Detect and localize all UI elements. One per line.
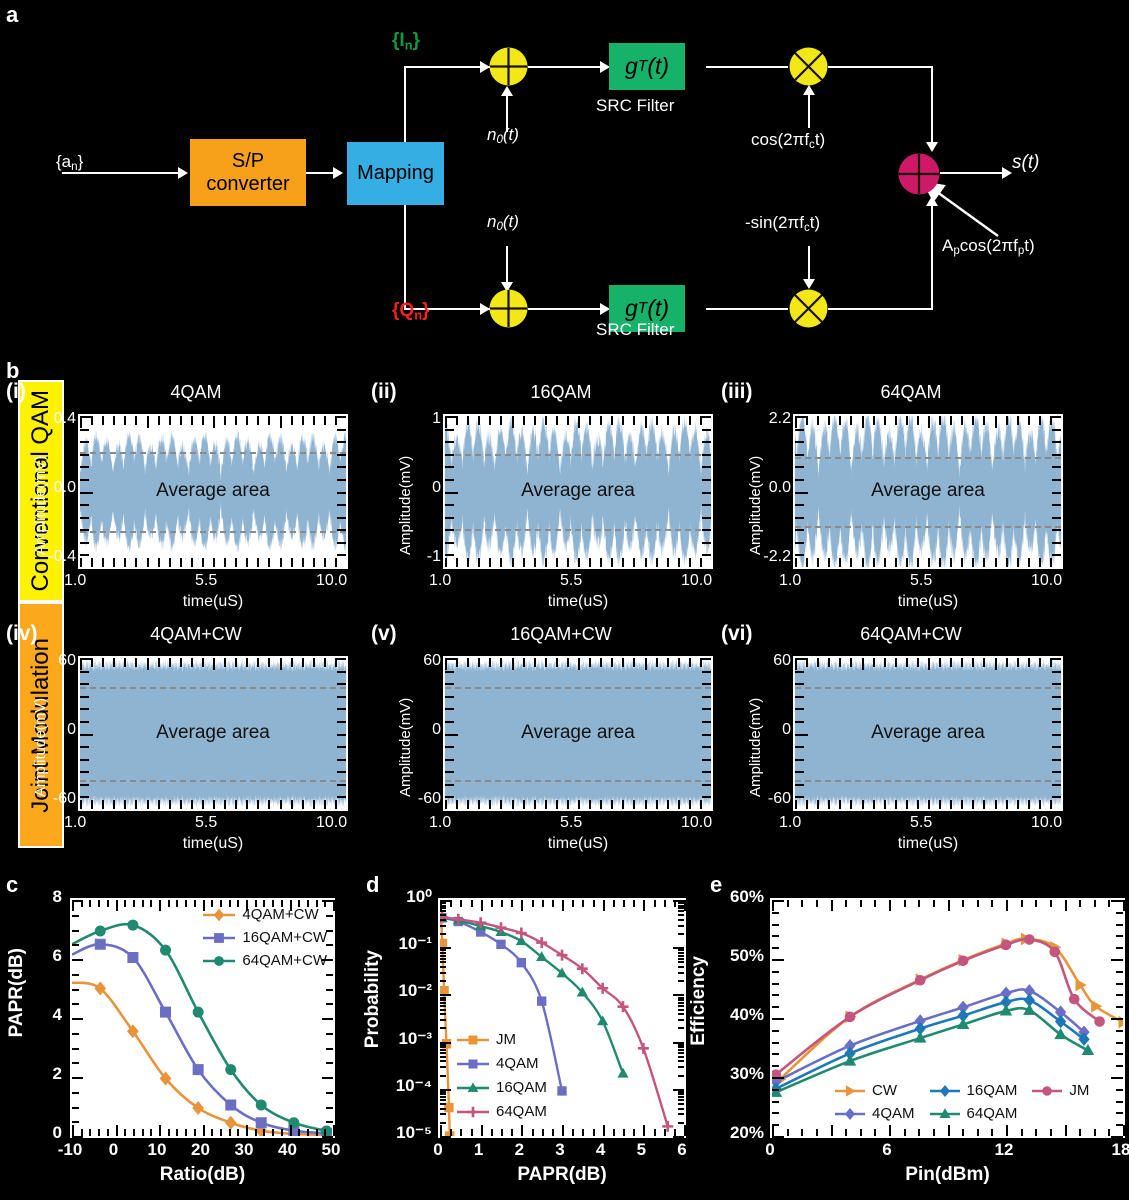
- axis-tick: [711, 658, 713, 670]
- axis-tick: [795, 800, 797, 811]
- axis-tick: [337, 771, 346, 773]
- sp-line1: S/P: [232, 150, 264, 172]
- legend-item-16QAM+CW[interactable]: 16QAM+CW: [202, 929, 327, 946]
- axis-tick: [246, 416, 248, 425]
- axis-tick: [80, 416, 93, 418]
- axis-tick: [246, 1125, 248, 1136]
- axis-tick: [237, 1129, 239, 1136]
- axis-tick: [1006, 1125, 1008, 1136]
- axis-tick: [445, 479, 454, 481]
- axis-tick: [795, 567, 808, 569]
- average-level-line-upper: [795, 687, 1061, 689]
- axis-tick: [622, 558, 624, 567]
- legend-item-16QAM[interactable]: 16QAM: [456, 1079, 547, 1096]
- axis-tick: [678, 1046, 684, 1048]
- axis-tick: [337, 504, 346, 506]
- axis-tick: [839, 558, 841, 567]
- axis-tick: [772, 1112, 779, 1114]
- x-axis-label: PAPR(dB): [438, 1164, 686, 1186]
- x-tick-label: 6: [872, 1140, 902, 1160]
- x-tick-label: 30: [229, 1140, 259, 1160]
- axis-tick: [831, 900, 833, 911]
- x-tick-label: 5.5: [910, 572, 932, 590]
- x-tick-label: 20: [186, 1140, 216, 1160]
- axis-tick: [326, 915, 333, 917]
- legend-marker-icon: [202, 931, 236, 945]
- legend-item-64QAM[interactable]: 64QAM: [929, 1105, 1018, 1122]
- axis-tick: [711, 800, 713, 811]
- axis-tick: [1061, 416, 1063, 428]
- axis-tick: [1052, 708, 1061, 710]
- subplot-title: 16QAM+CW: [411, 624, 711, 645]
- axis-tick: [235, 800, 237, 809]
- axis-tick: [72, 974, 79, 976]
- axis-tick: [280, 658, 282, 670]
- x-tick-label: 5: [626, 1140, 656, 1160]
- waveform-subplot-ii: (ii)16QAMAmplitude(mV)10-1Average area1.…: [371, 380, 741, 605]
- axis-tick: [1065, 900, 1067, 911]
- axis-tick: [862, 800, 864, 811]
- axis-tick: [523, 558, 525, 567]
- chart-e-plot-area: CW16QAMJM4QAM64QAM: [770, 898, 1125, 1138]
- axis-tick: [816, 1129, 818, 1136]
- axis-tick: [817, 800, 819, 809]
- axis-tick: [1052, 567, 1063, 569]
- axis-tick: [72, 1092, 79, 1094]
- axis-tick: [229, 1129, 231, 1136]
- q-sub: n: [414, 308, 422, 323]
- axis-tick: [440, 999, 446, 1001]
- axis-tick: [313, 416, 315, 425]
- axis-tick: [1052, 454, 1061, 456]
- axis-tick: [589, 558, 591, 567]
- axis-tick: [445, 466, 454, 468]
- axis-tick: [80, 529, 89, 531]
- axis-tick: [116, 900, 118, 911]
- axis-tick: [664, 1129, 666, 1136]
- y-tick-label: -1: [399, 548, 441, 566]
- axis-tick: [552, 900, 554, 907]
- legend-item-16QAM[interactable]: 16QAM: [929, 1082, 1018, 1099]
- axis-tick: [91, 800, 93, 809]
- axis-tick: [667, 416, 669, 425]
- axis-tick: [928, 658, 930, 670]
- axis-tick: [700, 800, 702, 809]
- axis-tick: [562, 900, 564, 911]
- axis-tick: [801, 1129, 803, 1136]
- legend-marker-icon: [202, 908, 236, 922]
- axis-tick: [80, 671, 89, 673]
- axis-tick: [874, 900, 876, 907]
- waveform-plot-area: Average area: [78, 656, 348, 811]
- x-tick-label: 6: [667, 1140, 697, 1160]
- axis-tick: [280, 416, 282, 428]
- axis-tick: [816, 900, 818, 907]
- axis-tick: [1028, 558, 1030, 567]
- axis-tick: [542, 1129, 544, 1136]
- legend-label: 4QAM: [872, 1105, 915, 1122]
- axis-tick: [795, 771, 804, 773]
- axis-tick: [102, 800, 104, 809]
- axis-tick: [135, 416, 137, 425]
- axis-tick: [578, 800, 580, 811]
- axis-tick: [135, 658, 137, 667]
- axis-tick: [678, 1052, 684, 1054]
- axis-tick: [1061, 800, 1063, 811]
- axis-tick: [168, 900, 170, 907]
- axis-tick: [939, 800, 941, 809]
- x-tick-label: 0: [99, 1140, 129, 1160]
- y-axis-label: Efficiency: [688, 956, 710, 1046]
- axis-tick: [772, 947, 779, 949]
- axis-tick: [337, 554, 346, 556]
- cos-tail: t): [815, 130, 825, 149]
- axis-tick: [678, 1113, 684, 1115]
- axis-tick: [772, 971, 779, 973]
- axis-tick: [521, 1125, 523, 1136]
- x-tick-label: 1: [464, 1140, 494, 1160]
- axis-tick: [948, 900, 950, 911]
- axis-tick: [1017, 558, 1019, 567]
- axis-tick: [839, 800, 841, 809]
- axis-tick: [235, 558, 237, 567]
- legend-item-4QAM[interactable]: 4QAM: [834, 1105, 915, 1122]
- axis-tick: [445, 796, 454, 798]
- axis-tick: [895, 658, 897, 667]
- axis-tick: [481, 900, 483, 911]
- axis-tick: [895, 558, 897, 567]
- axis-tick: [89, 1129, 91, 1136]
- axis-tick: [116, 1125, 118, 1136]
- axis-tick: [268, 558, 270, 567]
- y-tick-label: 60: [34, 652, 76, 670]
- axis-tick: [678, 1060, 684, 1062]
- axis-tick: [806, 800, 808, 809]
- series-line-64QAM: [776, 1008, 1088, 1092]
- axis-tick: [1065, 1125, 1067, 1136]
- axis-tick: [1052, 696, 1061, 698]
- pilot-a: A: [942, 236, 953, 255]
- average-level-line-upper: [795, 457, 1061, 459]
- axis-tick: [500, 558, 502, 567]
- x-tick-label: 1.0: [429, 572, 451, 590]
- axis-tick: [906, 416, 908, 425]
- axis-tick: [928, 416, 930, 428]
- src-filter-i-block[interactable]: gT(t): [609, 43, 685, 90]
- axis-tick: [445, 542, 454, 544]
- legend-item-CW[interactable]: CW: [834, 1082, 915, 1099]
- axis-tick: [168, 1129, 170, 1136]
- pilot-tail: t): [1024, 236, 1034, 255]
- axis-tick: [500, 800, 502, 809]
- x-tick-label: 1.0: [429, 814, 451, 832]
- axis-tick: [860, 1129, 862, 1136]
- axis-tick: [667, 658, 669, 667]
- axis-tick: [80, 517, 89, 519]
- sp-converter-block[interactable]: S/P converter: [190, 139, 306, 206]
- axis-tick: [545, 800, 547, 809]
- axis-tick: [445, 492, 458, 494]
- axis-tick: [326, 1003, 333, 1005]
- axis-tick: [795, 429, 804, 431]
- axis-tick: [324, 800, 326, 809]
- axis-tick: [1116, 935, 1123, 937]
- legend-item-JM[interactable]: JM: [456, 1031, 547, 1048]
- axis-tick: [1079, 900, 1081, 907]
- series-line-JM: [776, 939, 1100, 1074]
- axis-tick: [1116, 1101, 1123, 1103]
- axis-tick: [1111, 1018, 1123, 1020]
- wire-mixer-i-down: [931, 66, 933, 144]
- mixer-q-icon: [789, 289, 828, 328]
- axis-tick: [80, 504, 89, 506]
- axis-tick: [889, 900, 891, 911]
- axis-tick: [567, 416, 569, 425]
- axis-tick: [1116, 947, 1123, 949]
- axis-tick: [80, 721, 89, 723]
- axis-tick: [593, 1129, 595, 1136]
- legend-marker-icon: [834, 1084, 866, 1098]
- axis-tick: [80, 658, 93, 660]
- axis-tick: [194, 900, 196, 907]
- axis-tick: [795, 466, 804, 468]
- legend-label: CW: [872, 1082, 897, 1099]
- axis-tick: [202, 800, 204, 809]
- axis-tick: [1052, 721, 1061, 723]
- axis-tick: [534, 558, 536, 567]
- axis-tick: [1035, 1129, 1037, 1136]
- axis-tick: [440, 952, 446, 954]
- axis-tick: [1052, 504, 1061, 506]
- wire-sin-carrier: [808, 246, 810, 279]
- mapping-block[interactable]: Mapping: [347, 142, 444, 205]
- axis-tick: [337, 429, 346, 431]
- axis-tick: [467, 558, 469, 567]
- y-tick-label: 0: [399, 479, 441, 497]
- x-tick-label: 1.0: [64, 814, 86, 832]
- subplot-title: 4QAM: [46, 382, 346, 403]
- axis-tick: [678, 1009, 684, 1011]
- axis-tick: [667, 558, 669, 567]
- axis-tick: [72, 1048, 79, 1050]
- axis-tick: [337, 746, 346, 748]
- axis-tick: [337, 529, 346, 531]
- wire-filter-q-mixer: [706, 308, 788, 310]
- axis-tick: [147, 800, 149, 811]
- axis-tick: [895, 416, 897, 425]
- average-level-line-lower: [445, 529, 711, 531]
- axis-tick: [1052, 492, 1063, 494]
- axis-tick: [850, 558, 852, 567]
- axis-tick: [874, 1129, 876, 1136]
- y-tick-label: 60%: [706, 887, 764, 907]
- legend-marker-icon: [456, 1105, 490, 1119]
- axis-tick: [772, 1124, 779, 1126]
- axis-tick: [246, 658, 248, 667]
- axis-tick: [795, 441, 804, 443]
- axis-tick: [445, 721, 454, 723]
- axis-tick: [593, 900, 595, 907]
- axis-tick: [501, 900, 503, 907]
- legend-item-JM[interactable]: JM: [1031, 1082, 1089, 1099]
- panel-c-letter: c: [6, 872, 18, 898]
- axis-tick: [567, 658, 569, 667]
- axis-tick: [255, 1129, 257, 1136]
- panel-e-efficiency-vs-pin: e CW16QAMJM4QAM64QAM20%30%40%50%60%06121…: [720, 870, 1129, 1200]
- axis-tick: [556, 558, 558, 567]
- combiner-icon: [898, 153, 940, 195]
- axis-tick: [678, 1044, 684, 1046]
- axis-tick: [440, 914, 446, 916]
- axis-tick: [772, 1077, 784, 1079]
- axis-tick: [80, 454, 89, 456]
- axis-tick: [1028, 416, 1030, 425]
- axis-tick: [124, 658, 126, 667]
- x-tick-label: 0: [755, 1140, 785, 1160]
- axis-tick: [445, 567, 458, 569]
- legend-item-64QAM+CW[interactable]: 64QAM+CW: [202, 952, 327, 969]
- axis-tick: [977, 1129, 979, 1136]
- waveform-plot-area: Average area: [443, 414, 713, 569]
- noise-i-tail: (t): [503, 125, 519, 144]
- axis-tick: [440, 972, 446, 974]
- axis-tick: [622, 416, 624, 425]
- x-tick-label: 18: [1106, 1140, 1129, 1160]
- legend-label: 16QAM+CW: [242, 929, 327, 946]
- axis-tick: [933, 1129, 935, 1136]
- axis-tick: [545, 658, 547, 667]
- axis-tick: [917, 558, 919, 567]
- x-tick-label: 4: [586, 1140, 616, 1160]
- axis-tick: [135, 800, 137, 809]
- axis-tick: [440, 907, 446, 909]
- axis-tick: [556, 416, 558, 425]
- axis-tick: [322, 900, 333, 902]
- axis-tick: [246, 800, 248, 809]
- axis-tick: [337, 734, 348, 736]
- axis-tick: [702, 492, 713, 494]
- legend-item-4QAM[interactable]: 4QAM: [456, 1055, 547, 1072]
- axis-tick: [850, 658, 852, 667]
- axis-tick: [191, 558, 193, 567]
- chart-d-legend: JM4QAM16QAM64QAM: [456, 1031, 547, 1120]
- axis-tick: [678, 999, 684, 1001]
- axis-tick: [678, 958, 684, 960]
- axis-tick: [523, 658, 525, 667]
- axis-tick: [467, 658, 469, 667]
- input-label-close: }: [78, 152, 84, 171]
- axis-tick: [678, 1049, 684, 1051]
- axis-tick: [678, 416, 680, 425]
- axis-tick: [72, 1003, 79, 1005]
- axis-tick: [603, 900, 605, 911]
- axis-tick: [689, 658, 691, 667]
- axis-tick: [702, 784, 711, 786]
- axis-tick: [440, 905, 446, 907]
- axis-tick: [147, 416, 149, 428]
- axis-tick: [678, 905, 684, 907]
- legend-item-64QAM[interactable]: 64QAM: [456, 1103, 547, 1120]
- axis-tick: [268, 658, 270, 667]
- axis-tick: [678, 1002, 684, 1004]
- axis-tick: [850, 800, 852, 809]
- axis-tick: [224, 658, 226, 667]
- filter-g-i: g: [625, 54, 638, 80]
- legend-label: 64QAM+CW: [242, 952, 327, 969]
- axis-tick: [674, 1129, 676, 1136]
- axis-tick: [1111, 1136, 1123, 1138]
- axis-tick: [589, 416, 591, 425]
- axis-tick: [1111, 1077, 1123, 1079]
- axis-tick: [1116, 912, 1123, 914]
- axis-tick: [337, 479, 346, 481]
- axis-tick: [1052, 479, 1061, 481]
- axis-tick: [772, 1125, 774, 1136]
- axis-tick: [337, 441, 346, 443]
- axis-tick: [80, 759, 89, 761]
- axis-tick: [80, 734, 93, 736]
- axis-tick: [678, 1019, 684, 1021]
- axis-tick: [176, 900, 178, 907]
- axis-tick: [512, 800, 514, 811]
- axis-tick: [307, 1129, 309, 1136]
- axis-tick: [545, 416, 547, 425]
- axis-tick: [440, 1096, 446, 1098]
- axis-tick: [995, 658, 997, 670]
- axis-tick: [159, 900, 161, 911]
- axis-tick: [917, 416, 919, 425]
- axis-tick: [702, 454, 711, 456]
- axis-tick: [991, 900, 993, 907]
- axis-tick: [337, 809, 348, 811]
- axis-tick: [654, 1129, 656, 1136]
- y-tick-label: 60: [749, 652, 791, 670]
- axis-tick: [873, 416, 875, 425]
- axis-tick: [445, 683, 454, 685]
- y-tick-label: 4: [30, 1005, 62, 1025]
- axis-tick: [772, 1101, 779, 1103]
- axis-tick: [491, 1129, 493, 1136]
- axis-tick: [333, 900, 335, 911]
- axis-tick: [1052, 542, 1061, 544]
- axis-tick: [831, 1125, 833, 1136]
- legend-item-4QAM+CW[interactable]: 4QAM+CW: [202, 906, 318, 923]
- axis-tick: [972, 658, 974, 667]
- axis-tick: [440, 966, 446, 968]
- axis-tick: [1061, 558, 1063, 569]
- axis-tick: [346, 658, 348, 670]
- axis-tick: [445, 784, 454, 786]
- x-axis-label: Ratio(dB): [70, 1164, 335, 1186]
- axis-tick: [337, 567, 348, 569]
- axis-tick: [440, 1027, 446, 1029]
- x-axis-label: time(uS): [443, 835, 713, 853]
- axis-tick: [991, 1129, 993, 1136]
- axis-tick: [678, 910, 684, 912]
- i-branch-label: {In}: [392, 30, 420, 53]
- axis-tick: [534, 800, 536, 809]
- output-signal-label: s(t): [1012, 152, 1039, 174]
- legend-marker-icon: [456, 1057, 490, 1071]
- axis-tick: [102, 558, 104, 567]
- axis-tick: [613, 1129, 615, 1136]
- axis-tick: [795, 558, 797, 569]
- axis-tick: [72, 989, 79, 991]
- axis-tick: [107, 900, 109, 907]
- axis-tick: [795, 454, 804, 456]
- y-tick-label: 10⁻³: [384, 1029, 432, 1049]
- axis-tick: [795, 696, 804, 698]
